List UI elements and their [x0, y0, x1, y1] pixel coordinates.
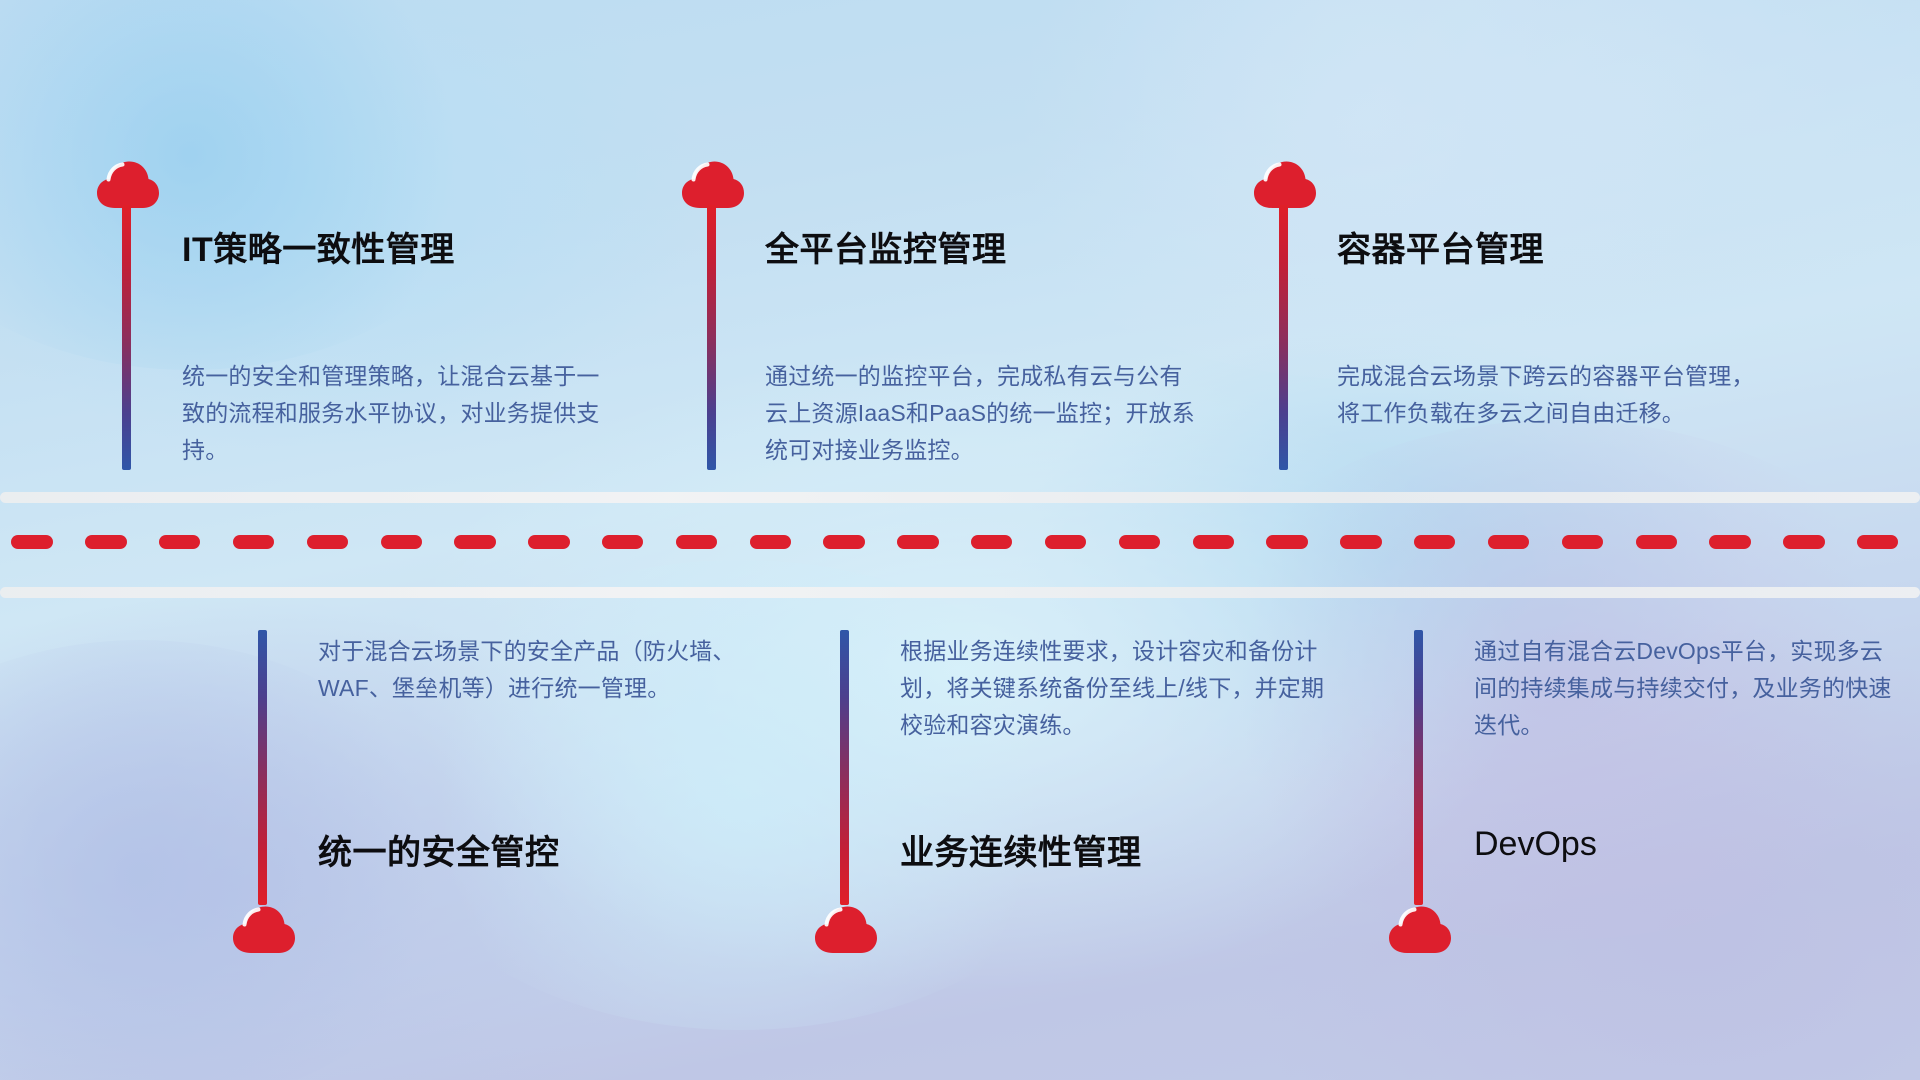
item-description: 通过统一的监控平台，完成私有云与公有云上资源IaaS和PaaS的统一监控；开放系…: [765, 358, 1195, 469]
item-description: 统一的安全和管理策略，让混合云基于一致的流程和服务水平协议，对业务提供支持。: [182, 358, 612, 469]
road-edge-top: [0, 492, 1920, 503]
road-dash: [159, 535, 200, 549]
item-description: 完成混合云场景下跨云的容器平台管理，将工作负载在多云之间自由迁移。: [1337, 358, 1767, 432]
item-description: 根据业务连续性要求，设计容灾和备份计划，将关键系统备份至线上/线下，并定期校验和…: [900, 633, 1330, 744]
road-dash: [676, 535, 717, 549]
cloud-icon: [1387, 905, 1453, 955]
road-dash: [823, 535, 864, 549]
background-blob: [380, 560, 1100, 1030]
stem-connector: [1414, 630, 1423, 905]
road-dash: [233, 535, 274, 549]
road-dash: [528, 535, 569, 549]
road-dash: [1340, 535, 1381, 549]
road-dash: [897, 535, 938, 549]
road-dash: [1636, 535, 1677, 549]
stem-connector: [1279, 205, 1288, 470]
road-dash: [1266, 535, 1307, 549]
item-title: 容器平台管理: [1337, 222, 1544, 271]
road-dash: [1857, 535, 1898, 549]
stem-connector: [840, 630, 849, 905]
road-dash: [1045, 535, 1086, 549]
road-dash: [11, 535, 52, 549]
cloud-icon: [95, 160, 161, 210]
road-divider: [0, 480, 1920, 600]
road-dash: [1709, 535, 1750, 549]
cloud-icon: [680, 160, 746, 210]
road-dash: [85, 535, 126, 549]
road-dash: [381, 535, 422, 549]
item-title: 全平台监控管理: [765, 222, 1007, 271]
road-dash: [750, 535, 791, 549]
stem-connector: [707, 205, 716, 470]
item-title: 统一的安全管控: [318, 825, 560, 874]
road-dash: [1119, 535, 1160, 549]
item-title: DevOps: [1474, 825, 1597, 864]
cloud-icon: [1252, 160, 1318, 210]
road-dash: [454, 535, 495, 549]
stem-connector: [258, 630, 267, 905]
cloud-icon: [813, 905, 879, 955]
background-blob: [0, 0, 500, 370]
road-dash: [307, 535, 348, 549]
road-dash: [971, 535, 1012, 549]
road-dash: [1193, 535, 1234, 549]
road-dash: [1414, 535, 1455, 549]
stem-connector: [122, 205, 131, 470]
item-title: 业务连续性管理: [900, 825, 1142, 874]
road-dash: [1562, 535, 1603, 549]
road-dash-line: [0, 535, 1920, 549]
road-edge-bottom: [0, 587, 1920, 598]
item-title: IT策略一致性管理: [182, 222, 455, 271]
road-dash: [1783, 535, 1824, 549]
road-dash: [602, 535, 643, 549]
cloud-icon: [231, 905, 297, 955]
background-blob: [960, 0, 1780, 380]
item-description: 对于混合云场景下的安全产品（防火墙、WAF、堡垒机等）进行统一管理。: [318, 633, 748, 707]
item-description: 通过自有混合云DevOps平台，实现多云间的持续集成与持续交付，及业务的快速迭代…: [1474, 633, 1904, 744]
infographic-canvas: IT策略一致性管理 统一的安全和管理策略，让混合云基于一致的流程和服务水平协议，…: [0, 0, 1920, 1080]
road-dash: [1488, 535, 1529, 549]
